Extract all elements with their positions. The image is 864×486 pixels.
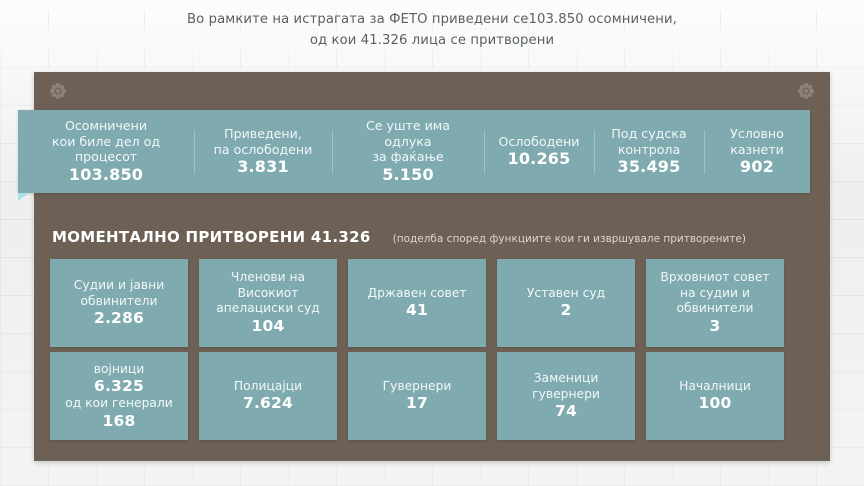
banner-stat-label: па ослободени: [204, 142, 322, 158]
stat-card: војници6.325од кои генерали168: [50, 352, 188, 440]
banner-stat-label: Приведени,: [204, 126, 322, 142]
banner-stat: Ослободени10.265: [484, 134, 594, 170]
card-row-1: Судии и јавниобвинители2.286Членови наВи…: [50, 259, 784, 347]
banner-stat-label: кои биле дел од: [28, 134, 184, 150]
stat-card-label: Членови на: [231, 270, 305, 286]
section-heading: МОМЕНТАЛНО ПРИТВОРЕНИ 41.326 (поделба сп…: [52, 228, 746, 246]
stat-card-label: апелациски суд: [216, 301, 320, 317]
stat-card-value: 3: [710, 317, 721, 336]
stat-card-value: 168: [103, 412, 136, 431]
stat-card-value: 74: [555, 402, 577, 421]
banner-stat-label: Ослободени: [494, 134, 584, 150]
stat-card-label: обвинители: [81, 294, 158, 310]
stat-card-value: 2: [561, 301, 572, 320]
banner-stat: Приведени,па ослободени3.831: [194, 126, 332, 177]
banner-stat-value: 902: [714, 157, 800, 177]
banner-fold-corner: [18, 193, 29, 201]
stat-card-label: Високиот: [238, 286, 299, 302]
banner-stat: Под судскаконтрола35.495: [594, 126, 704, 177]
stat-card-label: војници: [94, 362, 145, 378]
banner-stat: Осомниченикои биле дел одпроцесот103.850: [18, 118, 194, 185]
stat-card-value: 17: [406, 394, 428, 413]
summary-banner: Осомниченикои биле дел одпроцесот103.850…: [18, 110, 810, 193]
section-title: МОМЕНТАЛНО ПРИТВОРЕНИ 41.326: [52, 228, 371, 246]
stat-card-label: на судии и: [680, 286, 750, 302]
banner-stat-value: 103.850: [28, 165, 184, 185]
banner-stat-label: за фаќање: [342, 149, 474, 165]
banner-stat-value: 3.831: [204, 157, 322, 177]
banner-stat-label: Условно: [714, 126, 800, 142]
banner-stat: Се уште има одлуказа фаќање5.150: [332, 118, 484, 185]
page-title-line-1: Во рамките на истрагата за ФЕТО приведен…: [0, 9, 864, 30]
banner-stat-label: Под судска: [604, 126, 694, 142]
stat-card-label: Полицајци: [234, 379, 302, 395]
banner-stat-value: 10.265: [494, 149, 584, 169]
banner-stat: Условноказнети902: [704, 126, 810, 177]
stat-card-label: Началници: [679, 379, 751, 395]
card-row-2: војници6.325од кои генерали168Полицајци7…: [50, 352, 784, 440]
stat-card-value: 7.624: [243, 394, 293, 413]
stat-card: Заменицигувернери74: [497, 352, 635, 440]
stat-card-value: 2.286: [94, 309, 144, 328]
stat-card-label: обвинители: [677, 301, 754, 317]
banner-stat-label: Се уште има одлука: [342, 118, 474, 149]
stat-card: Врховниот советна судии иобвинители3: [646, 259, 784, 347]
stat-card: Членови наВисокиотапелациски суд104: [199, 259, 337, 347]
stat-card-label: од кои генерали: [65, 396, 173, 412]
banner-stat-label: казнети: [714, 142, 800, 158]
page-title: Во рамките на истрагата за ФЕТО приведен…: [0, 9, 864, 51]
stat-card: Началници100: [646, 352, 784, 440]
stat-card-label: Државен совет: [367, 286, 466, 302]
stat-card-label: гувернери: [532, 387, 600, 403]
banner-stat-label: Осомничени: [28, 118, 184, 134]
banner-stat-value: 35.495: [604, 157, 694, 177]
stat-card-value: 6.325: [94, 377, 144, 396]
rosette-ornament: [48, 81, 68, 101]
stat-card-label: Врховниот совет: [660, 270, 769, 286]
banner-stat-value: 5.150: [342, 165, 474, 185]
stat-card: Гувернери17: [348, 352, 486, 440]
stat-card-label: Уставен суд: [527, 286, 605, 302]
stat-card-label: Заменици: [534, 371, 599, 387]
rosette-ornament: [796, 81, 816, 101]
stat-card-label: Гувернери: [383, 379, 452, 395]
stat-card: Судии и јавниобвинители2.286: [50, 259, 188, 347]
stat-card-value: 100: [699, 394, 732, 413]
section-subtitle: (поделба според функциите кои ги извршув…: [393, 233, 746, 245]
stat-card: Државен совет41: [348, 259, 486, 347]
stat-card: Полицајци7.624: [199, 352, 337, 440]
banner-stat-label: контрола: [604, 142, 694, 158]
stat-card: Уставен суд2: [497, 259, 635, 347]
stat-card-label: Судии и јавни: [74, 278, 164, 294]
page-title-line-2: од кои 41.326 лица се притворени: [0, 30, 864, 51]
stat-card-value: 41: [406, 301, 428, 320]
stat-card-value: 104: [252, 317, 285, 336]
banner-stat-label: процесот: [28, 149, 184, 165]
